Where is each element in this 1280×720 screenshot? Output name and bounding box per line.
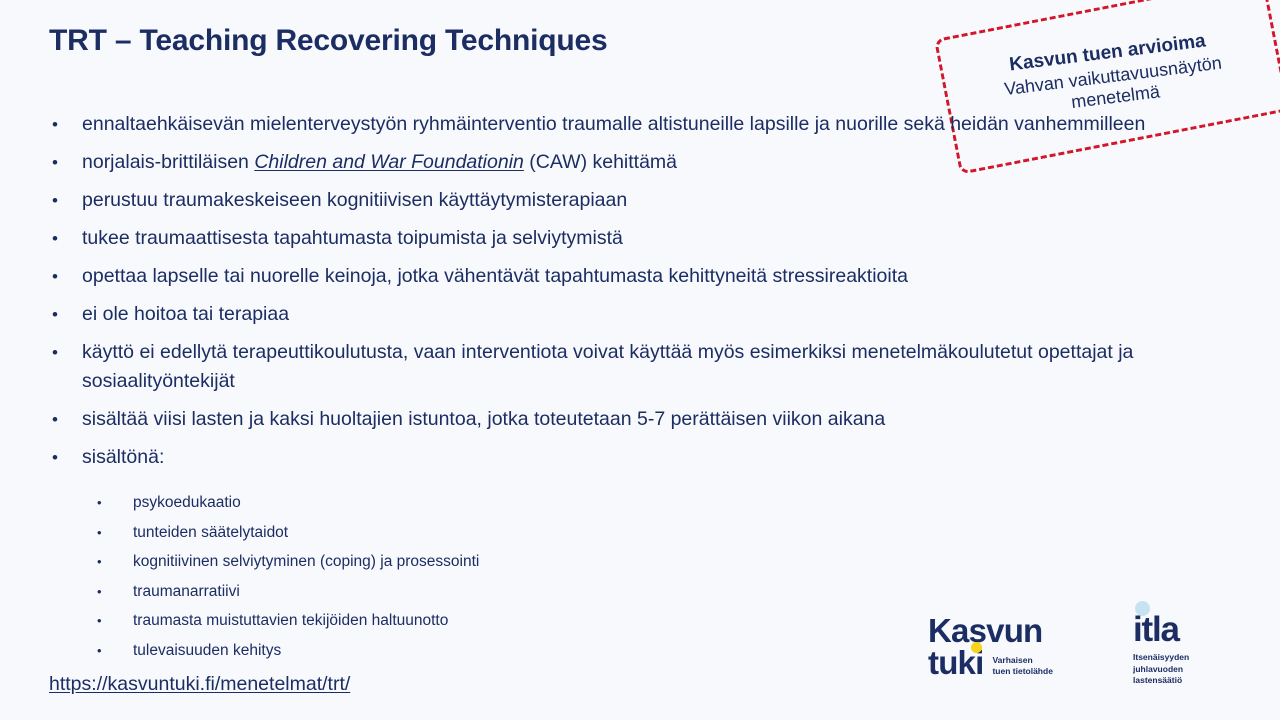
itla-tagline: Itsenäisyyden juhlavuoden lastensäätiö: [1133, 652, 1228, 687]
kasvun-tuki-word-tuki: tuki: [928, 646, 983, 680]
bullet-text: ennaltaehkäisevän mielenterveystyön ryhm…: [82, 110, 1154, 139]
kasvun-tuki-logo: Kasvun tuki Varhaisen tuen tietolähde: [928, 614, 1108, 686]
bullet-text: tukee traumaattisesta tapahtumasta toipu…: [82, 224, 1154, 253]
sub-list-item: • traumasta muistuttavien tekijöiden hal…: [97, 610, 797, 632]
sub-bullet-text: traumasta muistuttavien tekijöiden haltu…: [133, 610, 448, 632]
list-item: • sisältönä:: [49, 443, 1154, 472]
bullet-text: norjalais-brittiläisen Children and War …: [82, 148, 1154, 177]
sub-list-item: • kognitiivinen selviytyminen (coping) j…: [97, 551, 797, 573]
list-item: • perustuu traumakeskeiseen kognitiivise…: [49, 186, 1154, 215]
sub-bullet-marker-icon: •: [97, 492, 133, 514]
list-item: • tukee traumaattisesta tapahtumasta toi…: [49, 224, 1154, 253]
kasvun-tuki-row-two: tuki Varhaisen tuen tietolähde: [928, 646, 1108, 680]
sub-bullet-text: tulevaisuuden kehitys: [133, 640, 281, 662]
bullet-text-run: opettaa lapselle tai nuorelle keinoja, j…: [82, 265, 908, 287]
bullet-marker-icon: •: [49, 338, 82, 367]
sub-list-item: • tulevaisuuden kehitys: [97, 640, 797, 662]
bullet-text: opettaa lapselle tai nuorelle keinoja, j…: [82, 262, 1154, 291]
page-title: TRT – Teaching Recovering Techniques: [49, 24, 607, 58]
sub-list-item: • psykoedukaatio: [97, 492, 797, 514]
bullet-marker-icon: •: [49, 262, 82, 291]
itla-wordmark-text: itla: [1133, 610, 1179, 649]
sub-bullet-text: psykoedukaatio: [133, 492, 241, 514]
slide-root: TRT – Teaching Recovering Techniques Kas…: [0, 0, 1280, 720]
sub-bullet-marker-icon: •: [97, 610, 133, 632]
source-link[interactable]: https://kasvuntuki.fi/menetelmat/trt/: [49, 673, 350, 696]
bullet-text: sisältönä:: [82, 443, 1154, 472]
lightblue-circle-icon: [1135, 601, 1150, 616]
bullet-marker-icon: •: [49, 405, 82, 434]
bullet-text: sisältää viisi lasten ja kaksi huoltajie…: [82, 405, 1154, 434]
bullet-marker-icon: •: [49, 186, 82, 215]
bullet-text-run: käyttö ei edellytä terapeuttikoulutusta,…: [82, 341, 1133, 392]
kasvun-tuki-word-kasvun: Kasvun: [928, 614, 1108, 648]
itla-wordmark: itla: [1133, 612, 1228, 648]
bullet-text-run: perustuu traumakeskeiseen kognitiivisen …: [82, 189, 627, 211]
bullet-marker-icon: •: [49, 300, 82, 329]
list-item: • ennaltaehkäisevän mielenterveystyön ry…: [49, 110, 1154, 139]
bullet-text: käyttö ei edellytä terapeuttikoulutusta,…: [82, 338, 1154, 396]
sub-bullet-marker-icon: •: [97, 581, 133, 603]
itla-logo: itla Itsenäisyyden juhlavuoden lastensää…: [1133, 612, 1228, 692]
logo-group: Kasvun tuki Varhaisen tuen tietolähde it…: [928, 606, 1228, 692]
list-item: • norjalais-brittiläisen Children and Wa…: [49, 148, 1154, 177]
bullet-text-run: sisältää viisi lasten ja kaksi huoltajie…: [82, 408, 885, 430]
sub-bullet-marker-icon: •: [97, 640, 133, 662]
kasvun-tuki-tagline: Varhaisen tuen tietolähde: [992, 655, 1052, 677]
sub-bullet-text: traumanarratiivi: [133, 581, 240, 603]
bullet-text-run: norjalais-brittiläisen: [82, 151, 254, 173]
list-item: • käyttö ei edellytä terapeuttikoulutust…: [49, 338, 1154, 396]
bullet-text-run: tukee traumaattisesta tapahtumasta toipu…: [82, 227, 623, 249]
bullet-text-run: sisältönä:: [82, 446, 164, 468]
sub-bullet-list: • psykoedukaatio • tunteiden säätelytaid…: [97, 492, 797, 669]
bullet-text-run: ei ole hoitoa tai terapiaa: [82, 303, 289, 325]
bullet-text: perustuu traumakeskeiseen kognitiivisen …: [82, 186, 1154, 215]
bullet-text-run: ennaltaehkäisevän mielenterveystyön ryhm…: [82, 113, 1145, 135]
bullet-text-run: (CAW) kehittämä: [524, 151, 677, 173]
list-item: • opettaa lapselle tai nuorelle keinoja,…: [49, 262, 1154, 291]
sub-bullet-marker-icon: •: [97, 551, 133, 573]
sub-list-item: • traumanarratiivi: [97, 581, 797, 603]
bullet-text: ei ole hoitoa tai terapiaa: [82, 300, 1154, 329]
bullet-marker-icon: •: [49, 148, 82, 177]
list-item: • sisältää viisi lasten ja kaksi huoltaj…: [49, 405, 1154, 434]
sub-bullet-text: kognitiivinen selviytyminen (coping) ja …: [133, 551, 479, 573]
list-item: • ei ole hoitoa tai terapiaa: [49, 300, 1154, 329]
bullet-text-emphasis: Children and War Foundationin: [254, 151, 524, 173]
bullet-marker-icon: •: [49, 110, 82, 139]
sub-list-item: • tunteiden säätelytaidot: [97, 522, 797, 544]
sub-bullet-marker-icon: •: [97, 522, 133, 544]
bullet-marker-icon: •: [49, 443, 82, 472]
bullet-list: • ennaltaehkäisevän mielenterveystyön ry…: [49, 110, 1154, 481]
bullet-marker-icon: •: [49, 224, 82, 253]
sub-bullet-text: tunteiden säätelytaidot: [133, 522, 288, 544]
